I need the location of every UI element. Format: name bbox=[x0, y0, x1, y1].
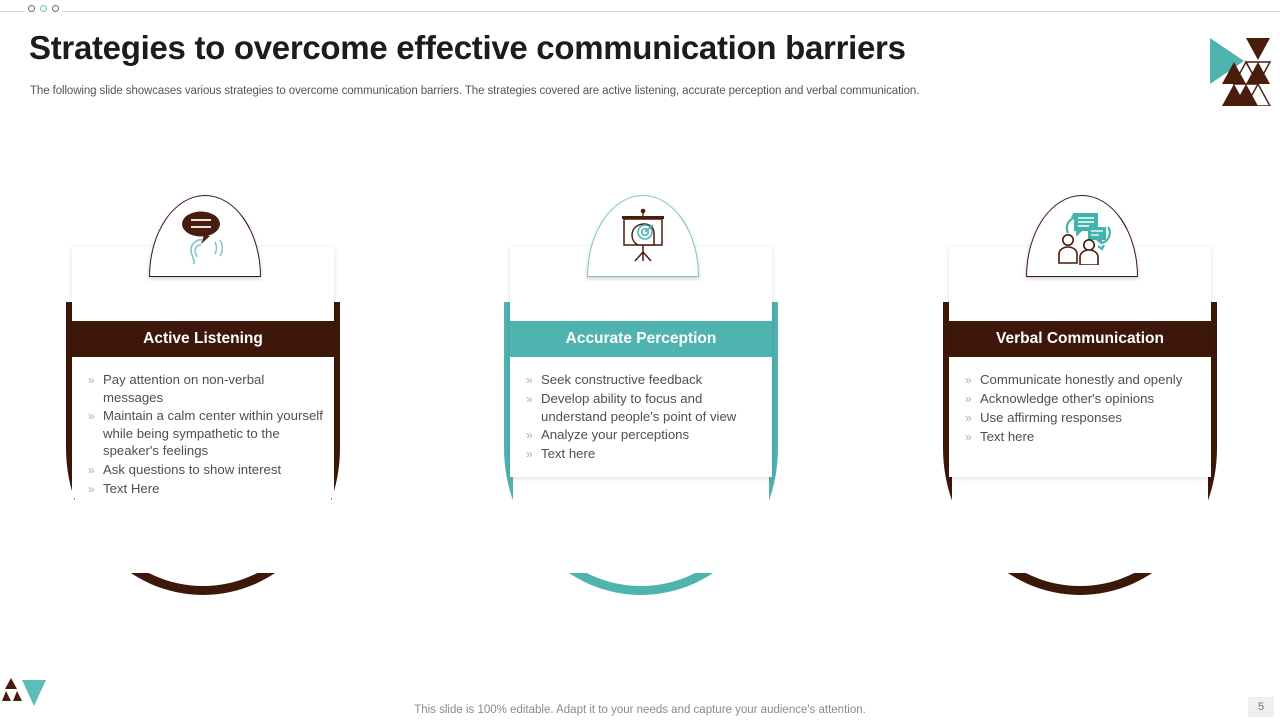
list-item: » Develop ability to focus and understan… bbox=[526, 390, 764, 425]
card-icon-dome bbox=[1026, 195, 1138, 277]
card-active-listening[interactable]: Active Listening » Pay attention on non-… bbox=[53, 190, 353, 610]
list-item: » Pay attention on non-verbal messages bbox=[88, 371, 326, 406]
list-item-text: Pay attention on non-verbal messages bbox=[103, 371, 326, 406]
page-number: 5 bbox=[1248, 697, 1274, 717]
bullet-marker-icon: » bbox=[88, 407, 103, 425]
card-bullet-list: » Seek constructive feedback » Develop a… bbox=[510, 357, 772, 463]
list-item: » Acknowledge other's opinions bbox=[965, 390, 1203, 408]
card-verbal-communication[interactable]: Verbal Communication » Communicate hones… bbox=[930, 190, 1230, 610]
card-panel: Active Listening » Pay attention on non-… bbox=[72, 247, 334, 477]
bullet-marker-icon: » bbox=[526, 390, 541, 408]
list-item: » Communicate honestly and openly bbox=[965, 371, 1203, 389]
bullet-marker-icon: » bbox=[965, 428, 980, 446]
window-dot-2[interactable] bbox=[40, 5, 47, 12]
bullet-marker-icon: » bbox=[965, 371, 980, 389]
list-item: » Ask questions to show interest bbox=[88, 461, 326, 479]
bullet-marker-icon: » bbox=[88, 461, 103, 479]
bullet-marker-icon: » bbox=[88, 480, 103, 498]
list-item-text: Analyze your perceptions bbox=[541, 426, 764, 444]
card-heading-verbal-communication: Verbal Communication bbox=[949, 321, 1211, 357]
list-item: » Maintain a calm center within yourself… bbox=[88, 407, 326, 460]
list-item-text: Use affirming responses bbox=[980, 409, 1203, 427]
card-heading-accurate-perception: Accurate Perception bbox=[510, 321, 772, 357]
two-people-chat-icon bbox=[1046, 207, 1118, 265]
list-item-text: Acknowledge other's opinions bbox=[980, 390, 1203, 408]
bullet-marker-icon: » bbox=[526, 445, 541, 463]
card-icon-dome bbox=[587, 195, 699, 277]
list-item: » Text here bbox=[965, 428, 1203, 446]
strategy-cards-row: Active Listening » Pay attention on non-… bbox=[0, 190, 1280, 610]
card-body-mask bbox=[513, 477, 769, 573]
page-title: Strategies to overcome effective communi… bbox=[29, 29, 906, 67]
page-subtitle: The following slide showcases various st… bbox=[30, 85, 919, 97]
list-item-text: Develop ability to focus and understand … bbox=[541, 390, 764, 425]
list-item-text: Ask questions to show interest bbox=[103, 461, 326, 479]
bullet-marker-icon: » bbox=[965, 390, 980, 408]
list-item-text: Text here bbox=[541, 445, 764, 463]
window-dot-3[interactable] bbox=[52, 5, 59, 12]
list-item: » Text here bbox=[526, 445, 764, 463]
window-controls bbox=[25, 5, 62, 12]
card-bullet-list: » Pay attention on non-verbal messages »… bbox=[72, 357, 334, 498]
list-item: » Text Here bbox=[88, 480, 326, 498]
card-accurate-perception[interactable]: Accurate Perception » Seek constructive … bbox=[491, 190, 791, 610]
card-icon-dome bbox=[149, 195, 261, 277]
bullet-marker-icon: » bbox=[965, 409, 980, 427]
card-body-mask bbox=[952, 477, 1208, 573]
list-item-text: Text here bbox=[980, 428, 1203, 446]
list-item: » Use affirming responses bbox=[965, 409, 1203, 427]
list-item-text: Text Here bbox=[103, 480, 326, 498]
list-item-text: Seek constructive feedback bbox=[541, 371, 764, 389]
window-dot-1[interactable] bbox=[28, 5, 35, 12]
bullet-marker-icon: » bbox=[526, 371, 541, 389]
list-item-text: Maintain a calm center within yourself w… bbox=[103, 407, 326, 460]
card-panel: Accurate Perception » Seek constructive … bbox=[510, 247, 772, 477]
presentation-board-mind-target-icon bbox=[608, 206, 678, 266]
ear-listening-icon bbox=[170, 208, 240, 264]
card-panel: Verbal Communication » Communicate hones… bbox=[949, 247, 1211, 477]
list-item: » Analyze your perceptions bbox=[526, 426, 764, 444]
list-item: » Seek constructive feedback bbox=[526, 371, 764, 389]
card-bullet-list: » Communicate honestly and openly » Ackn… bbox=[949, 357, 1211, 446]
brand-triangles-logo-top-right bbox=[1204, 34, 1272, 106]
window-title-bar bbox=[0, 0, 1280, 12]
card-heading-active-listening: Active Listening bbox=[72, 321, 334, 357]
bullet-marker-icon: » bbox=[88, 371, 103, 389]
bullet-marker-icon: » bbox=[526, 426, 541, 444]
footer-note: This slide is 100% editable. Adapt it to… bbox=[0, 704, 1280, 716]
list-item-text: Communicate honestly and openly bbox=[980, 371, 1203, 389]
